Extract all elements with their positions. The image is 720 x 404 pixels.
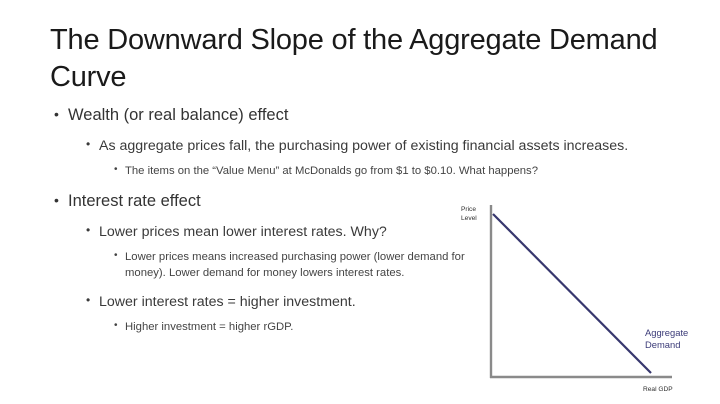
bullet-wealth-effect: • Wealth (or real balance) effect <box>54 104 660 128</box>
aggregate-demand-chart: Price Level Real GDP Aggregate Demand <box>455 200 720 404</box>
aggregate-demand-line <box>493 214 651 373</box>
bullet-dot-icon: • <box>114 319 118 333</box>
bullet-interest-sub1-sub-label: Lower prices means increased purchasing … <box>125 249 493 281</box>
bullet-dot-icon: • <box>86 292 90 309</box>
spacer <box>50 181 660 190</box>
bullet-wealth-sub-label: As aggregate prices fall, the purchasing… <box>99 136 660 156</box>
chart-ylabel-line1: Price <box>461 206 476 213</box>
slide-canvas: The Downward Slope of the Aggregate Dema… <box>0 0 720 404</box>
bullet-dot-icon: • <box>114 163 118 177</box>
bullet-dot-icon: • <box>114 249 118 263</box>
bullet-wealth-sub: • As aggregate prices fall, the purchasi… <box>86 136 660 156</box>
bullet-dot-icon: • <box>54 190 59 210</box>
aggregate-demand-label-line1: Aggregate <box>645 327 688 338</box>
bullet-interest-sub1-sub: • Lower prices means increased purchasin… <box>114 249 493 281</box>
aggregate-demand-label-line2: Demand <box>645 339 680 350</box>
bullet-dot-icon: • <box>86 222 90 239</box>
bullet-dot-icon: • <box>86 136 90 153</box>
bullet-wealth-sub-sub: • The items on the “Value Menu” at McDon… <box>114 163 660 179</box>
bullet-dot-icon: • <box>54 104 59 124</box>
chart-ylabel-line2: Level <box>461 215 477 222</box>
bullet-wealth-sub-sub-label: The items on the “Value Menu” at McDonal… <box>125 163 660 179</box>
page-title: The Downward Slope of the Aggregate Dema… <box>50 22 670 96</box>
chart-xlabel: Real GDP <box>643 386 673 393</box>
bullet-wealth-effect-label: Wealth (or real balance) effect <box>68 104 660 128</box>
